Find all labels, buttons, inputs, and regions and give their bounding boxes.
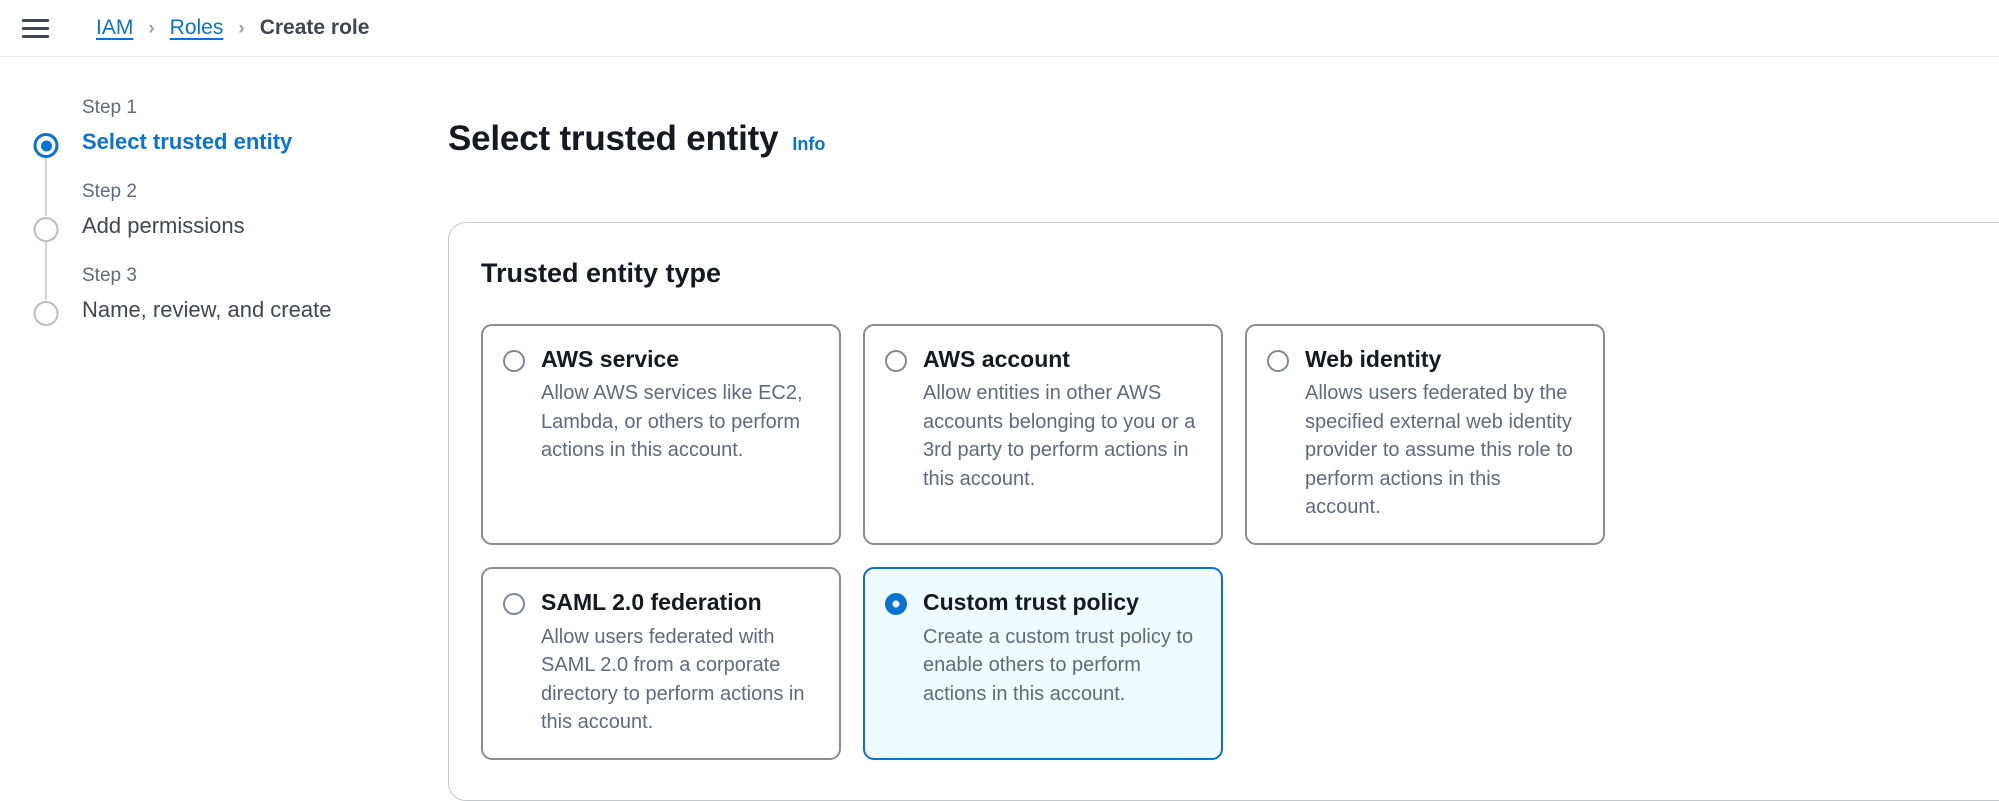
stepper-item-select-trusted-entity[interactable]: Step 1 Select trusted entity [24,97,430,181]
step-kicker: Step 2 [82,181,430,204]
step-kicker: Step 1 [82,97,430,120]
panel-title: Trusted entity type [481,257,1999,289]
option-tile-web-identity[interactable]: Web identity Allows users federated by t… [1245,324,1605,546]
step-marker-icon [34,217,59,242]
hamburger-bar [22,19,49,22]
stepper-item-add-permissions[interactable]: Step 2 Add permissions [24,181,430,265]
step-title: Name, review, and create [82,296,430,324]
breadcrumb-item-roles[interactable]: Roles [170,16,224,40]
chevron-right-icon: › [238,19,244,38]
radio-icon[interactable] [503,593,525,615]
trusted-entity-type-options: AWS service Allow AWS services like EC2,… [481,324,1999,761]
radio-icon[interactable] [885,350,907,372]
step-marker-active-icon [34,133,59,158]
step-marker-icon [34,301,59,326]
step-title: Add permissions [82,212,430,240]
main-content: Select trusted entity Info Trusted entit… [430,97,1999,801]
option-description: Allow users federated with SAML 2.0 from… [541,623,817,737]
hamburger-menu-icon[interactable] [22,14,50,42]
option-tile-saml-federation[interactable]: SAML 2.0 federation Allow users federate… [481,567,841,760]
option-description: Create a custom trust policy to enable o… [923,623,1199,708]
page-title-row: Select trusted entity Info [448,97,1999,182]
breadcrumb-item-iam[interactable]: IAM [96,16,133,40]
option-tile-text: SAML 2.0 federation Allow users federate… [541,589,817,736]
stepper-item-name-review-create[interactable]: Step 3 Name, review, and create [24,265,430,349]
hamburger-bar [22,35,49,38]
option-description: Allows users federated by the specified … [1305,379,1581,521]
option-label: Web identity [1305,346,1581,374]
radio-icon[interactable] [503,350,525,372]
option-label: AWS account [923,346,1199,374]
option-tile-text: Web identity Allows users federated by t… [1305,346,1581,522]
page-body: Step 1 Select trusted entity Step 2 Add … [0,57,1999,801]
step-title: Select trusted entity [82,128,430,156]
option-label: SAML 2.0 federation [541,589,817,617]
option-tile-text: AWS service Allow AWS services like EC2,… [541,346,817,465]
page-title: Select trusted entity [448,120,778,159]
option-label: AWS service [541,346,817,374]
option-description: Allow entities in other AWS accounts bel… [923,379,1199,493]
option-tile-custom-trust-policy[interactable]: Custom trust policy Create a custom trus… [863,567,1223,760]
top-header: IAM › Roles › Create role [0,0,1999,57]
hamburger-bar [22,27,49,30]
wizard-stepper: Step 1 Select trusted entity Step 2 Add … [0,97,430,801]
option-tile-aws-service[interactable]: AWS service Allow AWS services like EC2,… [481,324,841,546]
info-link[interactable]: Info [792,134,825,155]
option-tile-aws-account[interactable]: AWS account Allow entities in other AWS … [863,324,1223,546]
step-kicker: Step 3 [82,265,430,288]
trusted-entity-type-panel: Trusted entity type AWS service Allow AW… [448,222,1999,801]
chevron-right-icon: › [148,19,154,38]
option-tile-text: Custom trust policy Create a custom trus… [923,589,1199,708]
option-tile-text: AWS account Allow entities in other AWS … [923,346,1199,493]
breadcrumb: IAM › Roles › Create role [96,16,369,40]
option-description: Allow AWS services like EC2, Lambda, or … [541,379,817,464]
breadcrumb-item-create-role: Create role [260,16,370,40]
radio-icon-selected[interactable] [885,593,907,615]
option-label: Custom trust policy [923,589,1199,617]
radio-icon[interactable] [1267,350,1289,372]
